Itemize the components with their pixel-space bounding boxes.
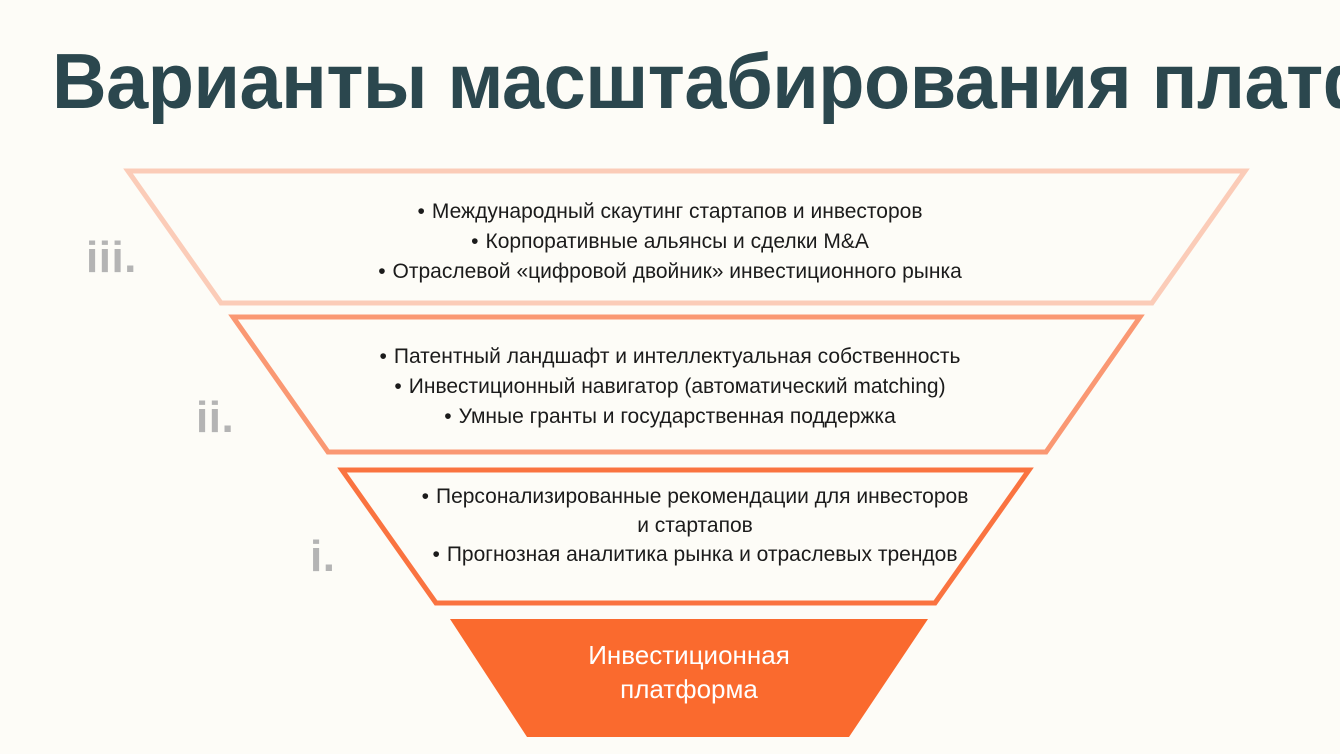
- list-item: •Корпоративные альянсы и сделки M&A: [270, 227, 1070, 257]
- list-item-label: Международный скаутинг стартапов и инвес…: [432, 200, 923, 223]
- list-item-label: Прогнозная аналитика рынка и отраслевых …: [447, 543, 958, 566]
- funnel-core-label-line-2: платформа: [450, 672, 928, 706]
- list-item-label: Инвестиционный навигатор (автоматический…: [409, 375, 946, 398]
- funnel-level-3-numeral: iii.: [86, 236, 137, 280]
- list-item: •Международный скаутинг стартапов и инве…: [270, 197, 1070, 227]
- funnel-level-2-numeral: ii.: [196, 396, 234, 440]
- slide-canvas: Варианты масштабирования платформы iii. …: [0, 0, 1340, 754]
- bullet-dot-icon: •: [444, 402, 451, 432]
- funnel-core-label: Инвестиционная платформа: [450, 638, 928, 706]
- list-item-label: Умные гранты и государственная поддержка: [459, 405, 896, 428]
- bullet-dot-icon: •: [422, 482, 429, 511]
- list-item-label: Персонализированные рекомендации для инв…: [436, 485, 968, 537]
- funnel-level-2-bullets: •Патентный ландшафт и интеллектуальная с…: [270, 342, 1070, 432]
- funnel-level-3-bullets: •Международный скаутинг стартапов и инве…: [270, 197, 1070, 287]
- funnel-level-1-bullets: •Персонализированные рекомендации для ин…: [415, 482, 975, 569]
- funnel-core-label-line-1: Инвестиционная: [450, 638, 928, 672]
- list-item: •Отраслевой «цифровой двойник» инвестици…: [270, 257, 1070, 287]
- list-item: •Прогнозная аналитика рынка и отраслевых…: [415, 540, 975, 569]
- bullet-dot-icon: •: [471, 227, 478, 257]
- list-item: •Персонализированные рекомендации для ин…: [415, 482, 975, 540]
- bullet-dot-icon: •: [380, 342, 387, 372]
- bullet-dot-icon: •: [432, 540, 439, 569]
- list-item: •Патентный ландшафт и интеллектуальная с…: [270, 342, 1070, 372]
- list-item-label: Корпоративные альянсы и сделки M&A: [486, 230, 869, 253]
- list-item-label: Отраслевой «цифровой двойник» инвестицио…: [393, 260, 962, 283]
- list-item-label: Патентный ландшафт и интеллектуальная со…: [394, 345, 961, 368]
- bullet-dot-icon: •: [418, 197, 425, 227]
- bullet-dot-icon: •: [394, 372, 401, 402]
- bullet-dot-icon: •: [378, 257, 385, 287]
- list-item: •Инвестиционный навигатор (автоматически…: [270, 372, 1070, 402]
- list-item: •Умные гранты и государственная поддержк…: [270, 402, 1070, 432]
- funnel-level-1-numeral: i.: [310, 535, 335, 579]
